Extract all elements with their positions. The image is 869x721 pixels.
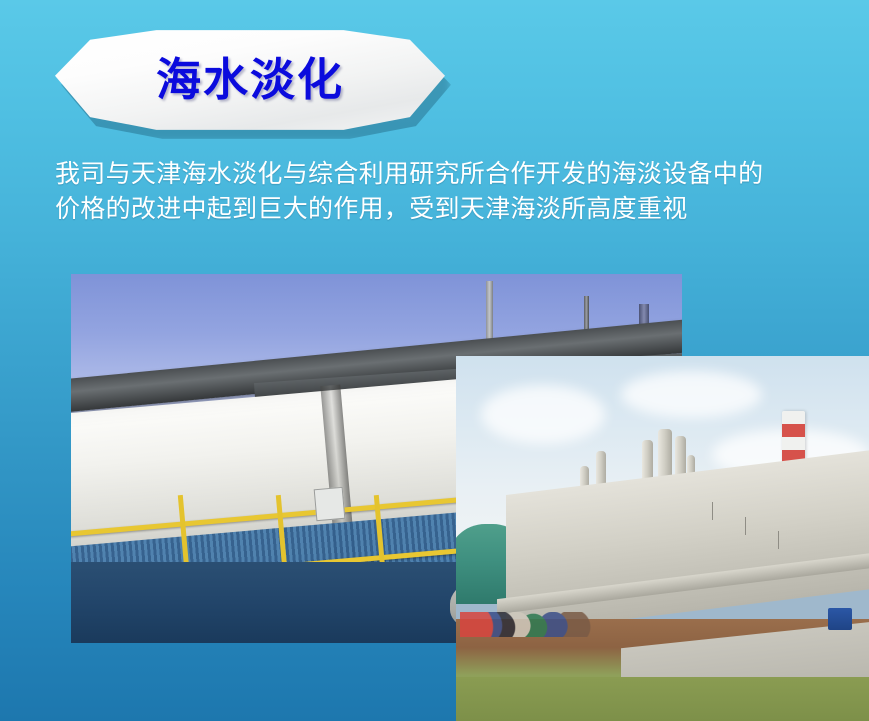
photo2-cloud	[481, 385, 605, 443]
photo2-lamp-post	[745, 517, 746, 535]
title-banner-shape: 海水淡化	[55, 27, 445, 133]
page-title: 海水淡化	[156, 57, 344, 104]
photo2-lamp-post	[778, 531, 779, 549]
photo1-control-box	[314, 487, 346, 521]
body-paragraph: 我司与天津海水淡化与综合利用研究所合作开发的海淡设备中的 价格的改进中起到巨大的…	[55, 157, 869, 226]
title-banner: 海水淡化	[55, 27, 445, 133]
body-line-1: 我司与天津海水淡化与综合利用研究所合作开发的海淡设备中的	[55, 157, 869, 192]
photo2-grass	[456, 677, 869, 721]
body-line-2: 价格的改进中起到巨大的作用，受到天津海淡所高度重视	[55, 192, 869, 227]
photo2-blue-barrel	[828, 608, 853, 630]
photo2-workers	[460, 612, 600, 638]
photo2-cloud	[621, 371, 761, 418]
slide-canvas: 海水淡化 我司与天津海水淡化与综合利用研究所合作开发的海淡设备中的 价格的改进中…	[0, 0, 869, 721]
photo2-lamp-post	[712, 502, 713, 520]
desalination-plant-overview-photo	[456, 356, 869, 721]
